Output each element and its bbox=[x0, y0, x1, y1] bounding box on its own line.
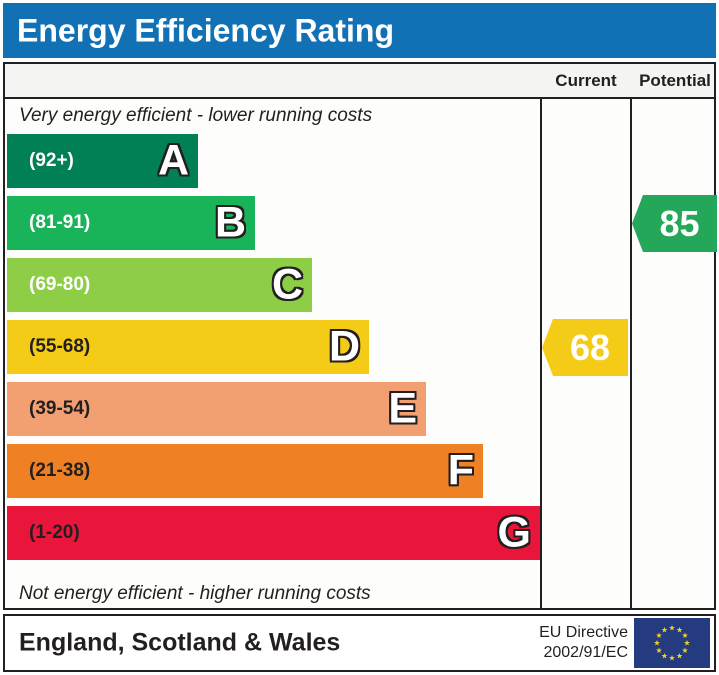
rating-band-b: (81-91)B bbox=[7, 196, 255, 250]
caption-not-efficient: Not energy efficient - higher running co… bbox=[5, 577, 540, 610]
eu-directive-line2: 2002/91/EC bbox=[539, 643, 628, 663]
energy-efficiency-rating-certificate: Energy Efficiency Rating Current Potenti… bbox=[0, 0, 719, 675]
footer-region-label: England, Scotland & Wales bbox=[19, 629, 340, 658]
potential-rating-marker: 85 bbox=[632, 195, 717, 252]
chart-title-bar: Energy Efficiency Rating bbox=[3, 3, 716, 58]
band-letter-c: C bbox=[272, 264, 303, 307]
rating-band-c: (69-80)C bbox=[7, 258, 312, 312]
certificate-footer: England, Scotland & Wales EU Directive 2… bbox=[3, 614, 716, 672]
band-letter-a: A bbox=[158, 140, 189, 183]
band-letter-b: B bbox=[215, 202, 246, 245]
table-header-row: Current Potential bbox=[5, 64, 714, 99]
band-range-f: (21-38) bbox=[29, 460, 90, 482]
column-divider-current bbox=[540, 64, 542, 608]
column-divider-potential bbox=[630, 64, 632, 608]
rating-bands: (92+)A(81-91)B(69-80)C(55-68)D(39-54)E(2… bbox=[5, 134, 540, 577]
column-header-potential: Potential bbox=[632, 64, 718, 97]
band-range-c: (69-80) bbox=[29, 274, 90, 296]
current-rating-value: 68 bbox=[560, 330, 610, 366]
current-rating-marker: 68 bbox=[542, 319, 628, 376]
rating-band-a: (92+)A bbox=[7, 134, 198, 188]
band-range-g: (1-20) bbox=[29, 522, 80, 544]
band-range-b: (81-91) bbox=[29, 212, 90, 234]
band-range-e: (39-54) bbox=[29, 398, 90, 420]
band-letter-e: E bbox=[388, 388, 417, 431]
rating-band-g: (1-20)G bbox=[7, 506, 540, 560]
caption-very-efficient: Very energy efficient - lower running co… bbox=[5, 99, 540, 132]
rating-band-e: (39-54)E bbox=[7, 382, 426, 436]
rating-band-f: (21-38)F bbox=[7, 444, 483, 498]
eu-directive-label: EU Directive 2002/91/EC bbox=[539, 623, 628, 663]
rating-table: Current Potential Very energy efficient … bbox=[3, 62, 716, 610]
band-letter-f: F bbox=[448, 450, 474, 493]
band-range-d: (55-68) bbox=[29, 336, 90, 358]
page-title: Energy Efficiency Rating bbox=[17, 12, 394, 49]
potential-rating-value: 85 bbox=[649, 206, 699, 242]
band-letter-d: D bbox=[329, 326, 360, 369]
rating-band-d: (55-68)D bbox=[7, 320, 369, 374]
band-letter-g: G bbox=[498, 512, 531, 555]
column-header-current: Current bbox=[542, 64, 630, 97]
band-range-a: (92+) bbox=[29, 150, 74, 172]
eu-flag-icon bbox=[634, 618, 710, 668]
eu-directive-line1: EU Directive bbox=[539, 623, 628, 643]
